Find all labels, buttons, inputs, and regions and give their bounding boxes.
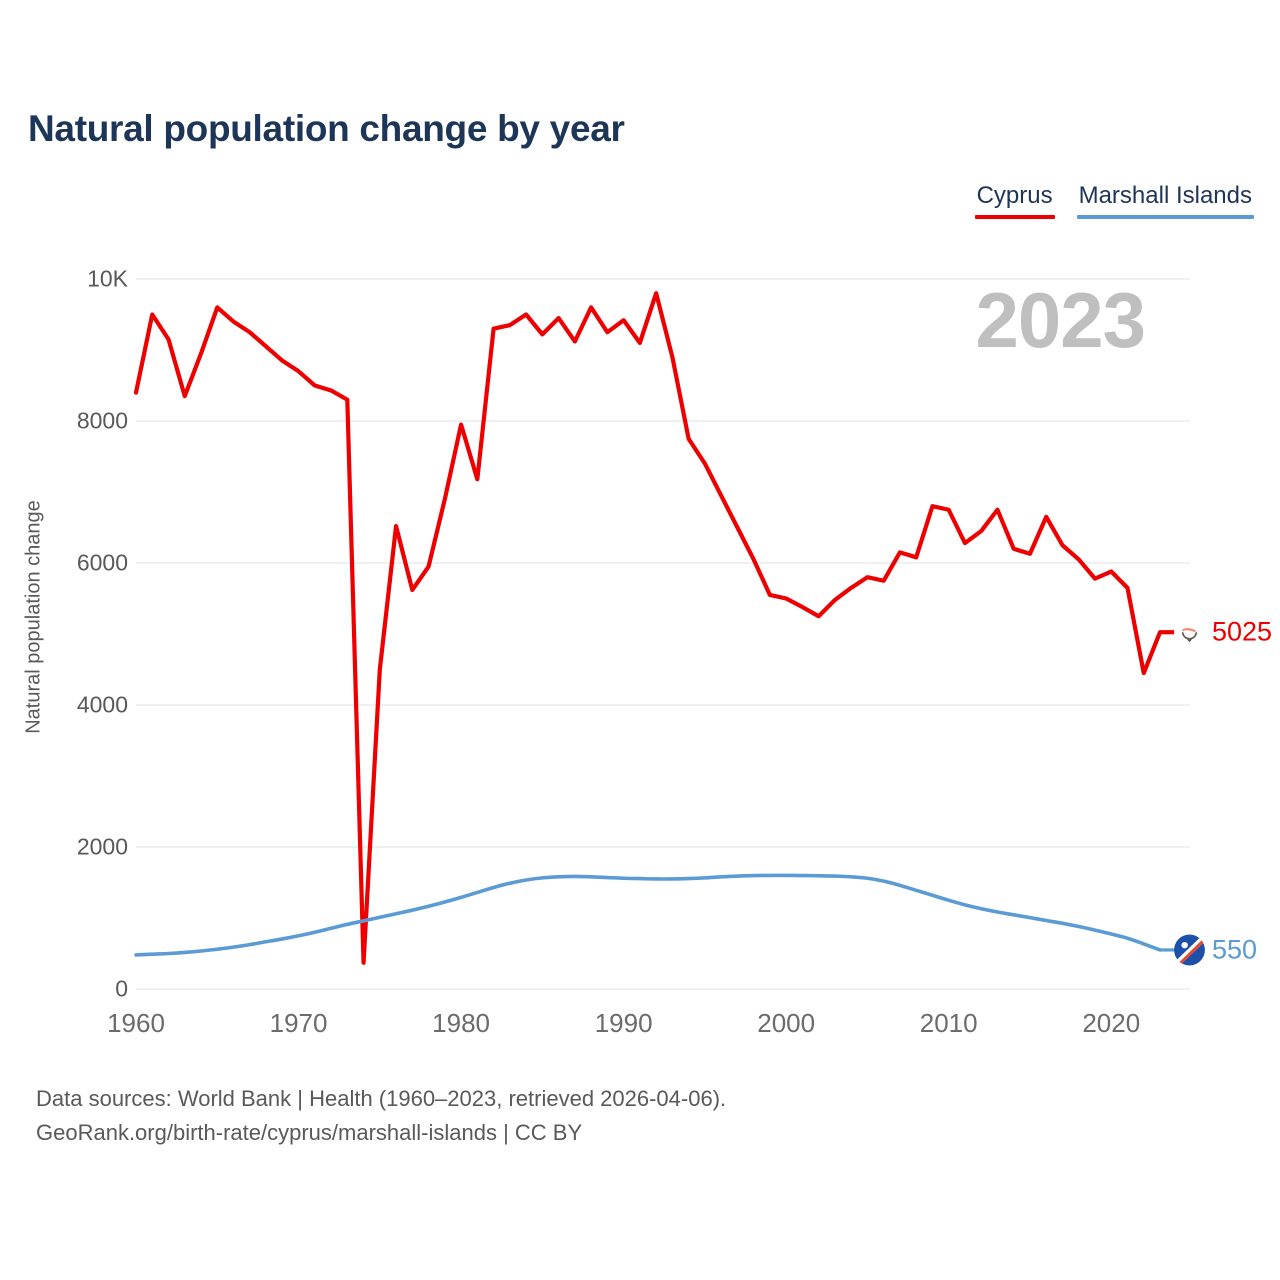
chart-container: Natural population change by year Cyprus… (0, 0, 1280, 1280)
marshall-islands-flag-icon (1174, 934, 1205, 965)
endpoint-value-marshall-islands: 550 (1212, 934, 1257, 965)
series-lines (136, 293, 1160, 963)
y-axis-tick-label: 2000 (77, 834, 128, 861)
legend-item-marshall-islands[interactable]: Marshall Islands (1077, 182, 1254, 219)
footer: Data sources: World Bank | Health (1960–… (36, 1082, 726, 1150)
series-line-cyprus (136, 293, 1160, 963)
x-axis-tick-label: 1960 (107, 1008, 165, 1039)
cyprus-flag-icon (1174, 617, 1205, 648)
x-axis-tick-label: 2010 (920, 1008, 978, 1039)
x-axis-tick-label: 2000 (757, 1008, 815, 1039)
gridlines (136, 279, 1190, 989)
page-title: Natural population change by year (28, 108, 625, 150)
year-watermark: 2023 (975, 275, 1145, 366)
y-axis-tick-label: 4000 (77, 692, 128, 719)
series-line-marshall-islands (136, 875, 1160, 955)
x-axis-tick-label: 1990 (595, 1008, 653, 1039)
endpoint-cyprus: 5025 (1174, 617, 1272, 648)
x-axis-tick-label: 2020 (1082, 1008, 1140, 1039)
footer-attribution: GeoRank.org/birth-rate/cyprus/marshall-i… (36, 1116, 726, 1150)
endpoint-marshall-islands: 550 (1174, 934, 1257, 965)
legend-rule-cyprus (975, 215, 1055, 219)
y-axis-title: Natural population change (23, 500, 46, 734)
endpoint-value-cyprus: 5025 (1212, 617, 1272, 648)
legend-rule-marshall-islands (1077, 215, 1254, 219)
endpoint-connectors (1160, 632, 1176, 950)
y-axis-tick-label: 10K (87, 266, 128, 293)
y-axis-tick-label: 6000 (77, 550, 128, 577)
y-axis-tick-label: 8000 (77, 408, 128, 435)
x-axis-tick-label: 1980 (432, 1008, 490, 1039)
legend-label-cyprus: Cyprus (975, 182, 1055, 215)
chart-legend: Cyprus Marshall Islands (975, 182, 1254, 219)
footer-data-sources: Data sources: World Bank | Health (1960–… (36, 1082, 726, 1116)
x-axis-tick-label: 1970 (270, 1008, 328, 1039)
legend-label-marshall-islands: Marshall Islands (1077, 182, 1254, 215)
y-axis-tick-label: 0 (115, 976, 128, 1003)
legend-item-cyprus[interactable]: Cyprus (975, 182, 1055, 219)
